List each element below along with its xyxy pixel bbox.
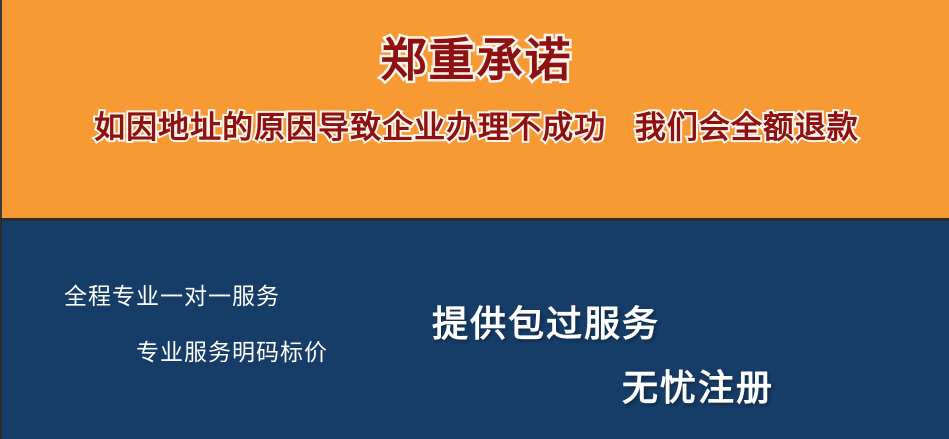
service-claim-worry-free-registration: 无忧注册 bbox=[622, 359, 774, 411]
promise-headline: 郑重承诺 bbox=[2, 33, 949, 87]
service-note-one-on-one: 全程专业一对一服务 bbox=[64, 277, 280, 311]
promise-banner: 郑重承诺 如因地址的原因导致企业办理不成功 我们会全额退款 全程专业一对一服务 … bbox=[0, 0, 949, 439]
service-claim-guaranteed-approval: 提供包过服务 bbox=[432, 295, 660, 347]
promise-panel: 郑重承诺 如因地址的原因导致企业办理不成功 我们会全额退款 bbox=[0, 0, 949, 218]
promise-subline: 如因地址的原因导致企业办理不成功 我们会全额退款 bbox=[2, 108, 949, 148]
service-note-transparent-pricing: 专业服务明码标价 bbox=[136, 333, 328, 367]
service-panel: 全程专业一对一服务 专业服务明码标价 提供包过服务 无忧注册 bbox=[0, 221, 949, 439]
